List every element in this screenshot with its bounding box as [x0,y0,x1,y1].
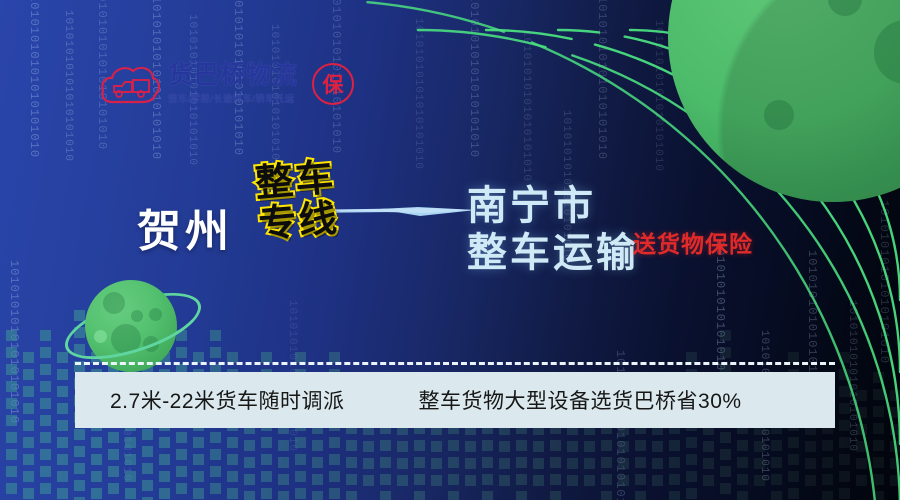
equalizer-square [873,491,884,500]
equalizer-square [703,475,714,486]
equalizer-square [856,424,867,435]
equalizer-square [448,491,459,500]
equalizer-square [91,437,102,448]
equalizer-square [720,483,731,494]
equalizer-square [261,488,272,499]
equalizer-square [873,474,884,485]
equalizer-square [6,432,17,443]
equalizer-square [176,347,187,358]
equalizer-square [74,429,85,440]
equalizer-square [40,398,51,409]
equalizer-square [635,474,646,485]
equalizer-square [57,471,68,482]
equalizer-square [856,407,867,418]
equalizer-square [380,491,391,500]
bottom-left-text: 2.7米-22米货车随时调派 [110,385,345,415]
equalizer-square [822,457,833,468]
dashed-divider [75,362,835,365]
equalizer-square [57,488,68,499]
equalizer-square [533,441,544,452]
equalizer-square [6,483,17,494]
binary-column: 10101010101010101010 [520,30,531,170]
equalizer-square [465,475,476,486]
equalizer-square [261,437,272,448]
equalizer-square [465,458,476,469]
equalizer-square [737,457,748,468]
equalizer-square [669,457,680,468]
equalizer-square [788,454,799,465]
brand-name: 货巴桥物流 [168,63,298,88]
equalizer-square [703,458,714,469]
equalizer-square [873,440,884,451]
destination-city: 南宁市 [467,183,639,230]
equalizer-square [125,437,136,448]
equalizer-square [567,458,578,469]
binary-column: 10101010101010101010 [596,0,608,166]
equalizer-square [550,474,561,485]
equalizer-square [227,437,238,448]
equalizer-square [839,471,850,482]
equalizer-square [873,406,884,417]
equalizer-square [57,352,68,363]
equalizer-square [448,457,459,468]
equalizer-square [890,441,900,452]
equalizer-square [516,474,527,485]
equalizer-square [839,454,850,465]
equalizer-square [890,407,900,418]
equalizer-square [210,330,221,341]
equalizer-square [431,458,442,469]
equalizer-square [754,458,765,469]
equalizer-square [618,458,629,469]
service-line-2: 专线 [257,201,340,245]
equalizer-square [822,474,833,485]
equalizer-square [414,491,425,500]
equalizer-square [261,454,272,465]
equalizer-square [278,457,289,468]
brand-logo[interactable]: 货巴桥物流 整车/零担/长途拼车/轿车托运 保 [100,62,354,106]
equalizer-square [193,471,204,482]
bottom-right-text: 整车货物大型设备选货巴桥省30% [419,385,742,415]
equalizer-square [839,437,850,448]
equalizer-square [431,441,442,452]
equalizer-square [652,441,663,452]
equalizer-square [346,440,357,451]
equalizer-square [210,483,221,494]
equalizer-square [6,364,17,375]
equalizer-square [482,491,493,500]
equalizer-square [40,381,51,392]
equalizer-square [652,475,663,486]
equalizer-square [635,440,646,451]
equalizer-square [380,457,391,468]
equalizer-square [329,437,340,448]
binary-column: 10101010101010101010 [62,10,73,130]
equalizer-square [652,458,663,469]
equalizer-square [856,441,867,452]
equalizer-square [771,457,782,468]
equalizer-square [159,454,170,465]
bottom-info-bar: 2.7米-22米货车随时调派 整车货物大型设备选货巴桥省30% [75,372,835,428]
equalizer-square [550,491,561,500]
equalizer-square [856,475,867,486]
insurance-badge: 保 [312,63,354,105]
equalizer-square [839,403,850,414]
equalizer-square [720,449,731,460]
equalizer-square [125,488,136,499]
equalizer-square [176,432,187,443]
equalizer-square [210,347,221,358]
equalizer-square [23,454,34,465]
equalizer-square [788,437,799,448]
equalizer-square [159,437,170,448]
equalizer-square [703,441,714,452]
equalizer-square [601,491,612,500]
equalizer-square [142,429,153,440]
equalizer-square [567,475,578,486]
equalizer-square [788,488,799,499]
equalizer-square [329,488,340,499]
equalizer-square [482,440,493,451]
equalizer-square [482,474,493,485]
equalizer-square [329,454,340,465]
equalizer-square [108,449,119,460]
equalizer-square [686,454,697,465]
equalizer-square [210,449,221,460]
equalizer-square [856,458,867,469]
equalizer-square [278,491,289,500]
equalizer-square [176,466,187,477]
equalizer-square [159,471,170,482]
equalizer-square [890,475,900,486]
equalizer-square [771,474,782,485]
equalizer-square [125,471,136,482]
equalizer-square [57,403,68,414]
equalizer-square [414,440,425,451]
equalizer-square [499,441,510,452]
equalizer-square [363,458,374,469]
equalizer-square [516,440,527,451]
equalizer-square [227,488,238,499]
equalizer-square [873,372,884,383]
equalizer-square [499,475,510,486]
equalizer-square [193,488,204,499]
equalizer-square [91,454,102,465]
equalizer-square [890,458,900,469]
equalizer-square [142,446,153,457]
equalizer-square [23,488,34,499]
cargo-insurance-text: 送货物保险 [633,225,753,259]
equalizer-square [805,458,816,469]
equalizer-square [771,491,782,500]
equalizer-square [176,483,187,494]
equalizer-square [533,458,544,469]
binary-column: 10101010101010101010 [878,200,890,380]
equalizer-square [176,449,187,460]
equalizer-square [193,454,204,465]
equalizer-square [669,474,680,485]
equalizer-square [6,347,17,358]
equalizer-square [159,488,170,499]
equalizer-square [295,488,306,499]
equalizer-square [40,432,51,443]
equalizer-square [720,432,731,443]
equalizer-square [108,466,119,477]
equalizer-square [550,457,561,468]
equalizer-square [40,483,51,494]
equalizer-square [57,386,68,397]
equalizer-square [193,437,204,448]
equalizer-square [23,437,34,448]
equalizer-square [839,386,850,397]
equalizer-square [346,457,357,468]
equalizer-square [754,475,765,486]
service-badge: 整车 专线 [254,160,341,245]
equalizer-square [737,474,748,485]
equalizer-square [839,488,850,499]
equalizer-square [312,440,323,451]
equalizer-square [601,457,612,468]
equalizer-square [482,457,493,468]
equalizer-square [516,491,527,500]
equalizer-square [40,449,51,460]
equalizer-square [23,352,34,363]
equalizer-square [414,457,425,468]
equalizer-square [618,475,629,486]
equalizer-square [856,390,867,401]
equalizer-square [261,471,272,482]
equalizer-square [91,471,102,482]
equalizer-square [312,491,323,500]
equalizer-square [244,457,255,468]
promo-banner: 1010101010101010101010101010101010101010… [0,0,900,500]
equalizer-square [686,437,697,448]
equalizer-square [448,474,459,485]
equalizer-square [6,330,17,341]
equalizer-square [295,471,306,482]
equalizer-square [295,454,306,465]
equalizer-square [91,488,102,499]
binary-column: 10101010101010101010 [468,0,480,194]
equalizer-square [40,466,51,477]
binary-column: 10101010101010101010 [28,0,40,144]
equalizer-square [108,432,119,443]
equalizer-square [6,466,17,477]
equalizer-square [346,491,357,500]
equalizer-square [74,480,85,491]
equalizer-square [227,454,238,465]
equalizer-square [584,458,595,469]
equalizer-square [890,390,900,401]
equalizer-square [737,491,748,500]
equalizer-square [431,475,442,486]
equalizer-square [312,474,323,485]
equalizer-square [6,415,17,426]
equalizer-square [397,458,408,469]
equalizer-square [363,475,374,486]
equalizer-square [210,466,221,477]
equalizer-square [754,441,765,452]
equalizer-square [822,440,833,451]
equalizer-square [737,440,748,451]
binary-column: 10101010101010101010 [412,18,423,138]
equalizer-square [40,415,51,426]
equalizer-square [346,474,357,485]
equalizer-square [635,491,646,500]
equalizer-square [686,488,697,499]
equalizer-square [771,440,782,451]
equalizer-square [448,440,459,451]
equalizer-square [805,475,816,486]
equalizer-square [210,432,221,443]
equalizer-square [74,463,85,474]
equalizer-square [329,471,340,482]
equalizer-square [550,440,561,451]
equalizer-square [227,471,238,482]
equalizer-square [380,474,391,485]
equalizer-square [57,420,68,431]
equalizer-square [23,369,34,380]
equalizer-square [601,440,612,451]
equalizer-square [839,369,850,380]
equalizer-square [839,352,850,363]
green-planet-icon [668,0,900,202]
equalizer-square [23,420,34,431]
equalizer-square [533,475,544,486]
equalizer-square [6,381,17,392]
equalizer-square [57,437,68,448]
service-line-1: 整车 [254,160,337,204]
equalizer-square [142,463,153,474]
equalizer-square [57,454,68,465]
equalizer-square [142,480,153,491]
binary-column: 10101010101010101010 [652,20,663,140]
equalizer-square [6,449,17,460]
equalizer-square [23,386,34,397]
equalizer-square [635,457,646,468]
equalizer-square [567,441,578,452]
equalizer-square [278,474,289,485]
brand-tagline: 整车/零担/长途拼车/轿车托运 [168,91,298,105]
equalizer-square [669,491,680,500]
equalizer-square [278,440,289,451]
equalizer-square [499,458,510,469]
origin-city: 贺州 [137,195,233,259]
equalizer-square [720,466,731,477]
equalizer-square [618,441,629,452]
equalizer-square [686,471,697,482]
equalizer-square [669,440,680,451]
equalizer-square [822,491,833,500]
equalizer-square [40,364,51,375]
equalizer-square [397,475,408,486]
equalizer-square [244,474,255,485]
binary-column: 10101010101010101010 [846,300,857,460]
equalizer-square [74,446,85,457]
equalizer-square [839,420,850,431]
equalizer-square [40,347,51,358]
equalizer-square [584,441,595,452]
equalizer-square [873,457,884,468]
equalizer-square [584,475,595,486]
equalizer-square [465,441,476,452]
equalizer-square [74,310,85,321]
equalizer-square [380,440,391,451]
equalizer-square [414,474,425,485]
equalizer-square [244,491,255,500]
equalizer-square [601,474,612,485]
equalizer-square [57,369,68,380]
equalizer-square [397,441,408,452]
equalizer-square [6,398,17,409]
equalizer-square [125,454,136,465]
equalizer-square [890,424,900,435]
equalizer-square [805,441,816,452]
equalizer-square [516,457,527,468]
cloud-truck-icon [100,62,162,106]
equalizer-square [788,471,799,482]
equalizer-square [312,457,323,468]
equalizer-square [873,423,884,434]
equalizer-square [23,403,34,414]
equalizer-square [23,471,34,482]
equalizer-square [108,483,119,494]
equalizer-square [295,437,306,448]
equalizer-square [363,441,374,452]
destination-service: 整车运输 [467,230,639,277]
destination-block: 南宁市 整车运输 [467,183,639,277]
equalizer-square [720,347,731,358]
equalizer-square [40,330,51,341]
equalizer-square [244,440,255,451]
equalizer-square [720,330,731,341]
equalizer-square [873,389,884,400]
